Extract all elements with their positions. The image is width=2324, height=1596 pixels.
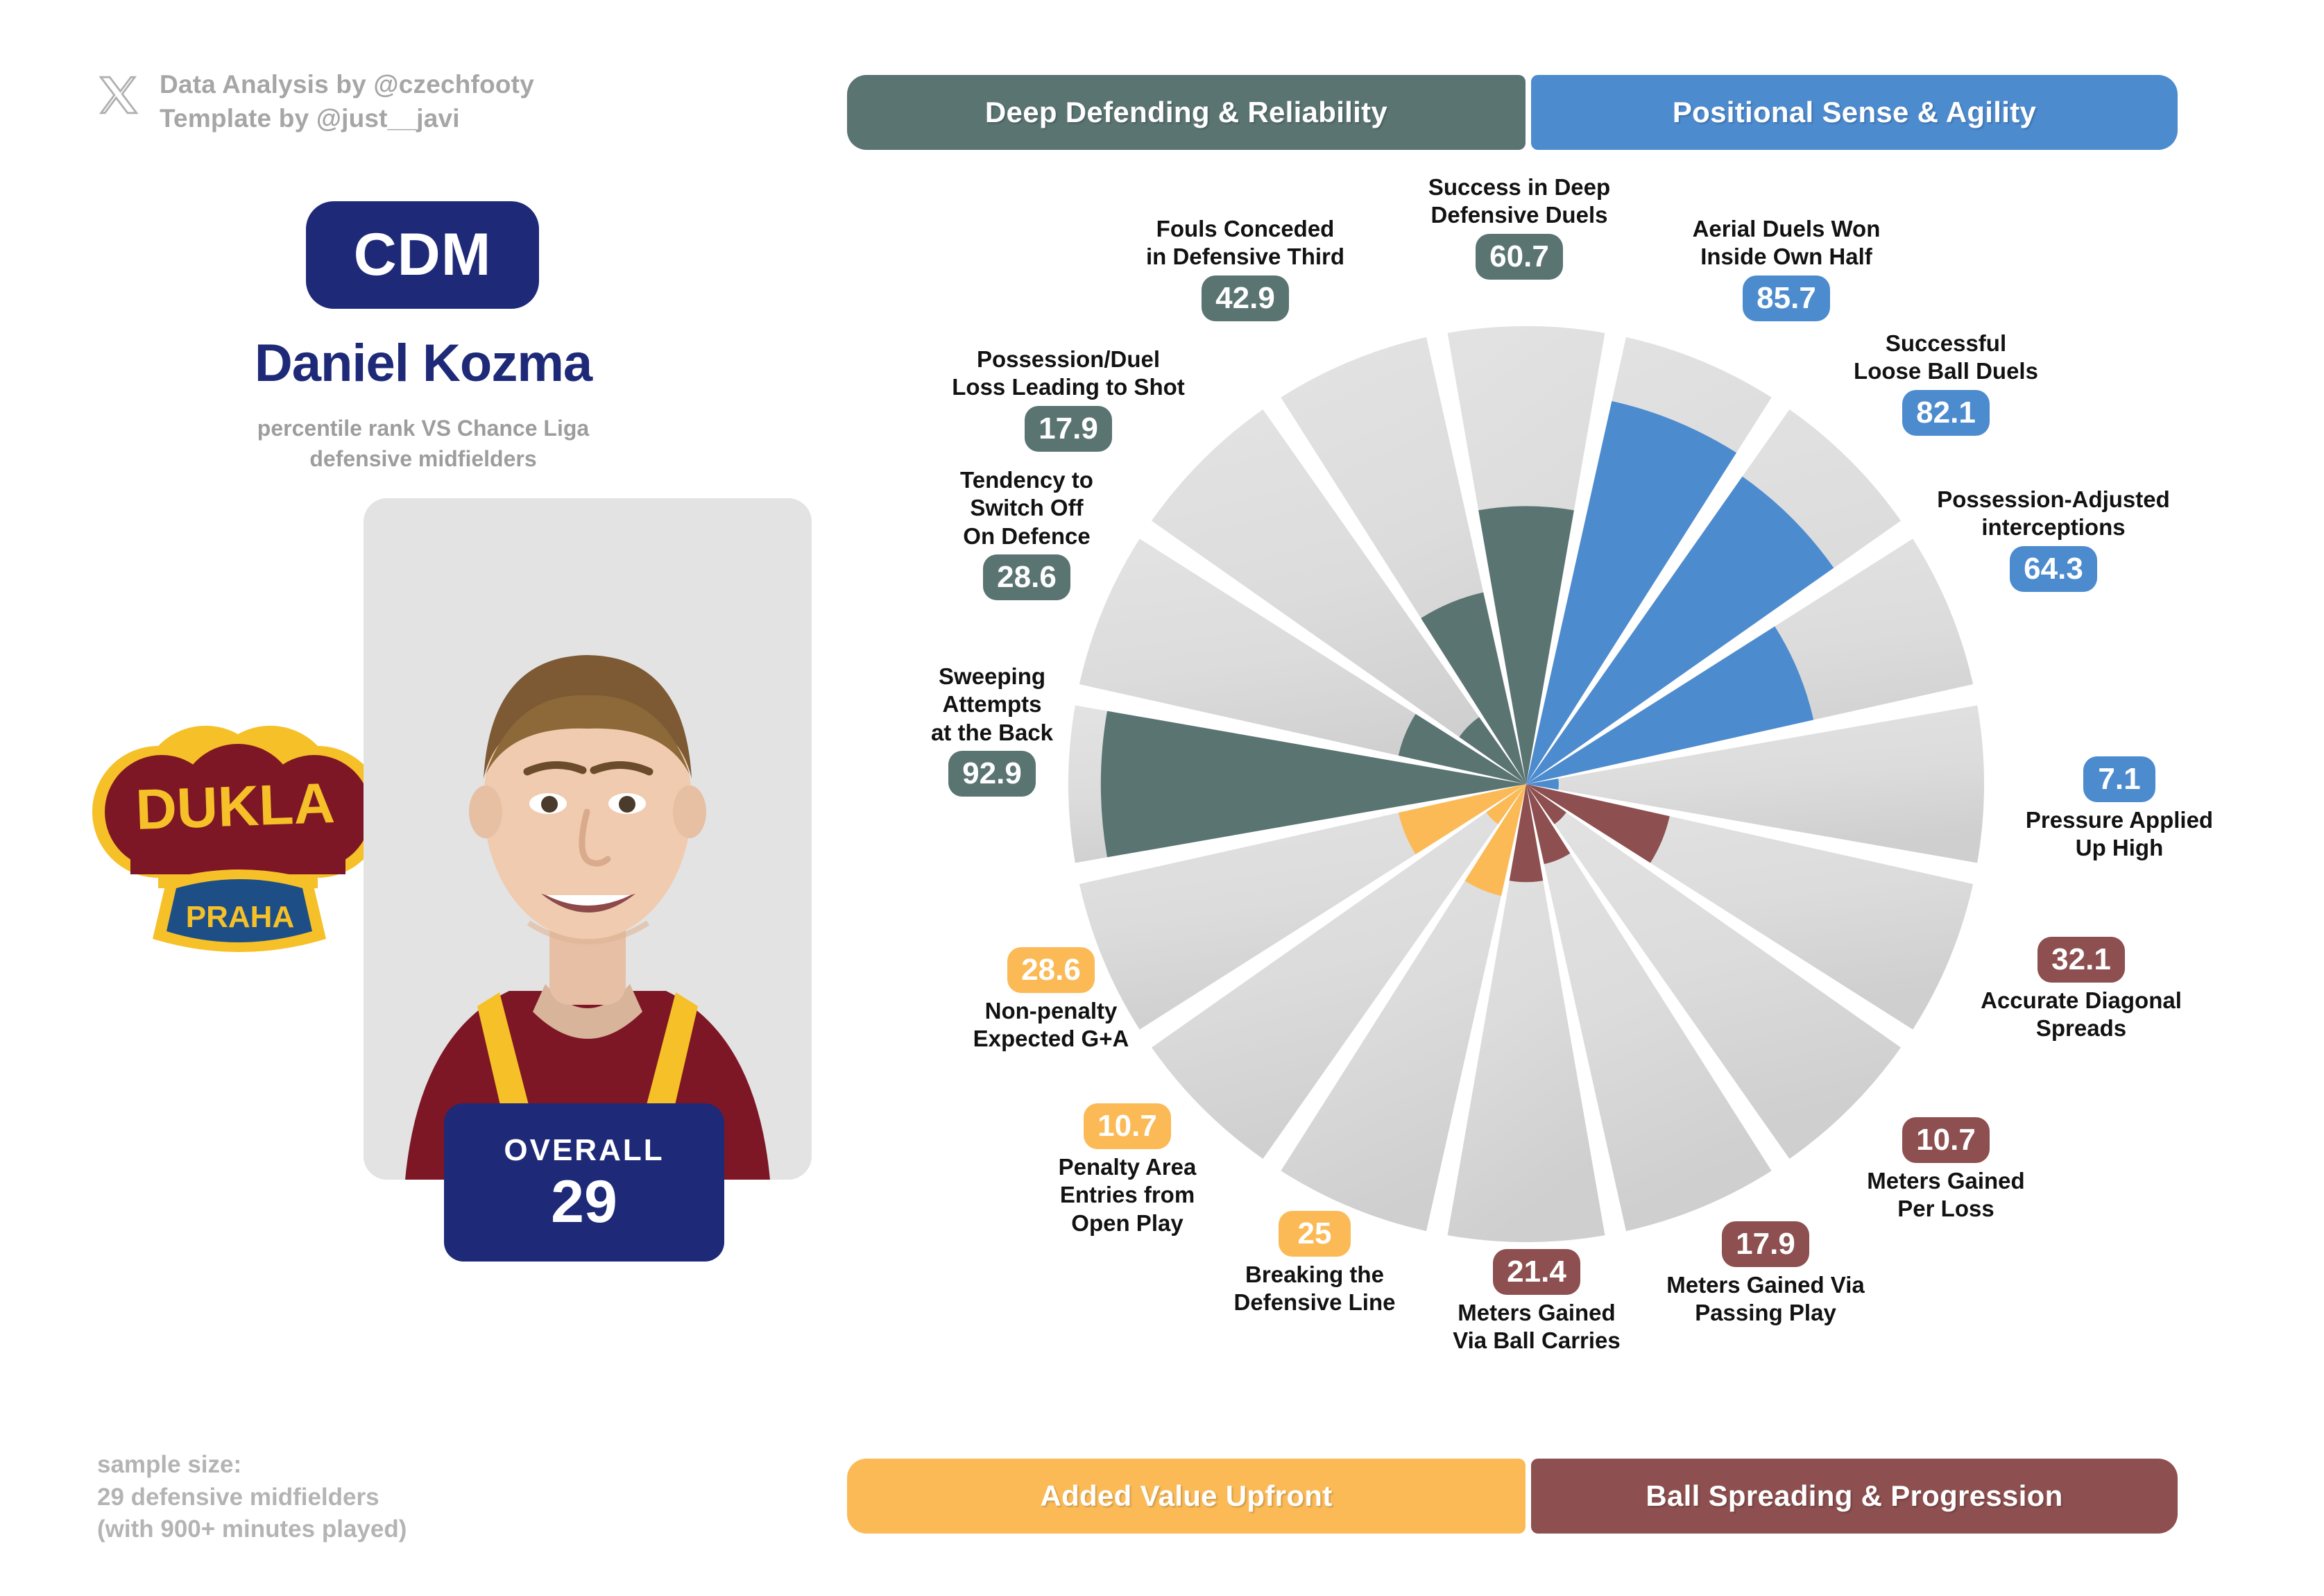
overall-label: OVERALL <box>504 1133 664 1168</box>
position-badge: CDM <box>306 201 539 309</box>
metric-value-chip: 82.1 <box>1902 390 1990 436</box>
metric-title: Aerial Duels Won Inside Own Half <box>1655 215 1918 271</box>
x-logo-icon <box>97 74 140 117</box>
metric-successful-loose-ball-duels: Successful Loose Ball Duels 82.1 <box>1811 330 2081 436</box>
metric-title: Possession-Adjusted interceptions <box>1901 486 2206 542</box>
club-crest-icon: DUKLA PRAHA <box>89 722 387 992</box>
metric-value-chip: 17.9 <box>1722 1221 1809 1267</box>
metric-value-chip: 28.6 <box>983 554 1070 600</box>
metric-value-chip: 85.7 <box>1743 275 1830 321</box>
overall-value: 29 <box>551 1172 617 1232</box>
metric-value-chip: 32.1 <box>2037 937 2125 983</box>
metric-value-chip: 92.9 <box>948 751 1036 797</box>
metric-possession-duel-loss-leading-to-shot: Possession/Duel Loss Leading to Shot 17.… <box>909 346 1228 452</box>
category-banner-deep-defending[interactable]: Deep Defending & Reliability <box>847 75 1526 150</box>
position-label: CDM <box>354 221 492 289</box>
metric-title: Possession/Duel Loss Leading to Shot <box>909 346 1228 402</box>
metric-accurate-diagonal-spreads: 32.1 Accurate Diagonal Spreads <box>1936 937 2227 1043</box>
metric-value-chip: 25 <box>1279 1211 1351 1257</box>
sample-size-note: sample size: 29 defensive midfielders (w… <box>97 1449 407 1546</box>
credits-line-1: Data Analysis by @czechfooty <box>160 68 534 102</box>
metric-value-chip: 60.7 <box>1476 234 1563 280</box>
metric-value-chip: 7.1 <box>2083 756 2155 802</box>
metric-title: Pressure Applied Up High <box>1981 806 2258 863</box>
metric-title: Sweeping Attempts at the Back <box>871 663 1113 747</box>
page-title: Daniel Kozma <box>83 333 763 393</box>
metric-fouls-conceded-in-defensive-third: Fouls Conceded in Defensive Third 42.9 <box>1093 215 1398 321</box>
metric-title: Penalty Area Entries from Open Play <box>999 1153 1256 1237</box>
svg-text:DUKLA: DUKLA <box>135 772 336 842</box>
metric-title: Tendency to Switch Off On Defence <box>902 466 1152 550</box>
player-photo <box>364 498 812 1180</box>
svg-text:PRAHA: PRAHA <box>186 900 294 934</box>
metric-meters-gained-per-loss: 10.7 Meters Gained Per Loss <box>1811 1117 2081 1223</box>
metric-title: Non-penalty Expected G+A <box>919 997 1183 1053</box>
credits-block: Data Analysis by @czechfooty Template by… <box>97 68 534 136</box>
metric-value-chip: 64.3 <box>2010 546 2097 592</box>
metric-pressure-applied-up-high: 7.1 Pressure Applied Up High <box>1981 756 2258 863</box>
metric-value-chip: 28.6 <box>1007 947 1095 993</box>
category-banner-ball-spreading[interactable]: Ball Spreading & Progression <box>1531 1459 2178 1534</box>
metric-value-chip: 10.7 <box>1902 1117 1990 1163</box>
category-banner-positional-sense[interactable]: Positional Sense & Agility <box>1531 75 2178 150</box>
metric-sweeping-attempts-at-the-back: Sweeping Attempts at the Back 92.9 <box>871 663 1113 797</box>
metric-success-deep-defensive-duels: Success in Deep Defensive Duels 60.7 <box>1381 173 1658 280</box>
credits-line-2: Template by @just__javi <box>160 102 534 136</box>
metric-non-penalty-expected-ga: 28.6 Non-penalty Expected G+A <box>919 947 1183 1053</box>
category-banner-added-value[interactable]: Added Value Upfront <box>847 1459 1526 1534</box>
metric-value-chip: 21.4 <box>1493 1249 1580 1295</box>
player-subtitle: percentile rank VS Chance Liga defensive… <box>111 413 735 474</box>
metric-value-chip: 10.7 <box>1084 1103 1171 1149</box>
metric-tendency-to-switch-off-on-defence: Tendency to Switch Off On Defence 28.6 <box>902 466 1152 600</box>
metric-aerial-duels-won-inside-own-half: Aerial Duels Won Inside Own Half 85.7 <box>1655 215 1918 321</box>
metric-title: Accurate Diagonal Spreads <box>1936 987 2227 1043</box>
overall-badge: OVERALL 29 <box>444 1103 724 1262</box>
metric-value-chip: 42.9 <box>1202 275 1289 321</box>
metric-title: Meters Gained Per Loss <box>1811 1167 2081 1223</box>
infographic-root: Data Analysis by @czechfooty Template by… <box>0 0 2324 1596</box>
metric-possession-adjusted-interceptions: Possession-Adjusted interceptions 64.3 <box>1901 486 2206 592</box>
metric-title: Success in Deep Defensive Duels <box>1381 173 1658 230</box>
metric-value-chip: 17.9 <box>1025 406 1112 452</box>
metric-title: Breaking the Defensive Line <box>1176 1261 1453 1317</box>
credits-text: Data Analysis by @czechfooty Template by… <box>160 68 534 136</box>
metric-title: Fouls Conceded in Defensive Third <box>1093 215 1398 271</box>
metric-title: Successful Loose Ball Duels <box>1811 330 2081 386</box>
metric-penalty-area-entries-from-open-play: 10.7 Penalty Area Entries from Open Play <box>999 1103 1256 1237</box>
